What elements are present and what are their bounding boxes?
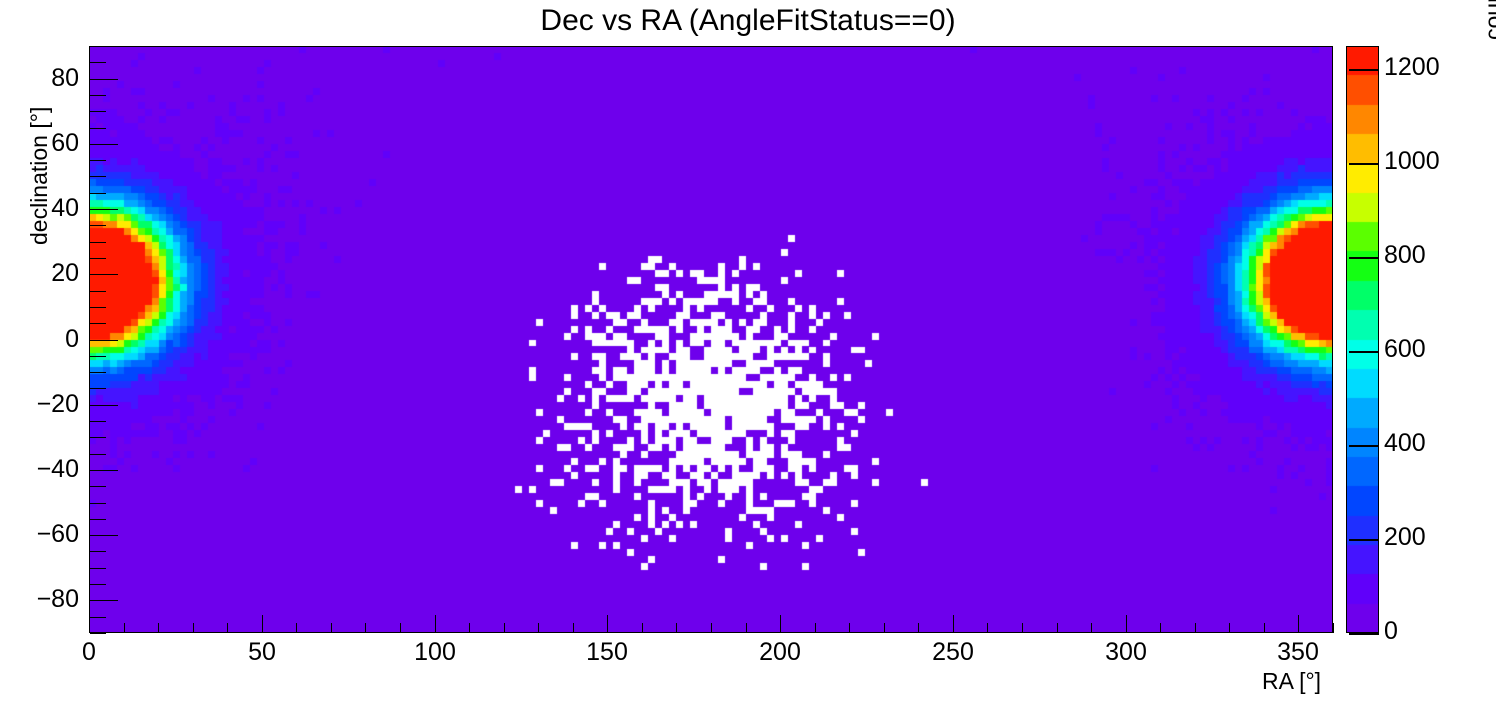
page-title: Dec vs RA (AngleFitStatus==0) [0, 4, 1496, 38]
z-axis-title: count [1480, 0, 1496, 40]
color-bar-tick [1349, 257, 1379, 259]
y-tick-label: −80 [0, 587, 79, 612]
x-tick-label: 200 [735, 640, 825, 665]
color-bar-tick-label: 1200 [1384, 55, 1440, 80]
color-bar-tick-label: 600 [1384, 337, 1426, 362]
color-bar-tick-label: 400 [1384, 431, 1426, 456]
x-tick-label: 50 [217, 640, 307, 665]
x-tick-label: 350 [1253, 640, 1343, 665]
y-tick-label: 20 [0, 261, 79, 286]
histogram-canvas[interactable] [89, 46, 1333, 633]
color-bar-tick [1349, 445, 1379, 447]
root-canvas: Dec vs RA (AngleFitStatus==0) 0501001502… [0, 0, 1496, 722]
x-tick-label: 150 [562, 640, 652, 665]
x-tick-minor [1333, 623, 1334, 633]
x-tick-label: 100 [390, 640, 480, 665]
y-tick-label: 80 [0, 66, 79, 91]
color-bar-tick [1349, 351, 1379, 353]
color-bar-frame [1346, 46, 1379, 633]
color-bar-tick-label: 800 [1384, 243, 1426, 268]
y-tick-minor [90, 633, 106, 634]
color-bar-tick [1349, 163, 1379, 165]
y-tick-label: 0 [0, 327, 79, 352]
y-axis-title: declination [°] [26, 107, 53, 245]
color-bar-tick-label: 1000 [1384, 149, 1440, 174]
x-axis-title: RA [°] [1262, 668, 1321, 695]
color-bar[interactable] [1346, 46, 1379, 633]
color-bar-tick-label: 200 [1384, 525, 1426, 550]
y-tick-label: −40 [0, 457, 79, 482]
x-tick-label: 250 [908, 640, 998, 665]
color-bar-tick-label: 0 [1384, 619, 1398, 644]
color-bar-tick [1349, 69, 1379, 71]
color-bar-tick [1349, 633, 1379, 635]
y-tick-label: −60 [0, 522, 79, 547]
color-bar-tick [1349, 539, 1379, 541]
x-tick-label: 0 [44, 640, 134, 665]
y-tick-label: −20 [0, 392, 79, 417]
x-tick-label: 300 [1081, 640, 1171, 665]
